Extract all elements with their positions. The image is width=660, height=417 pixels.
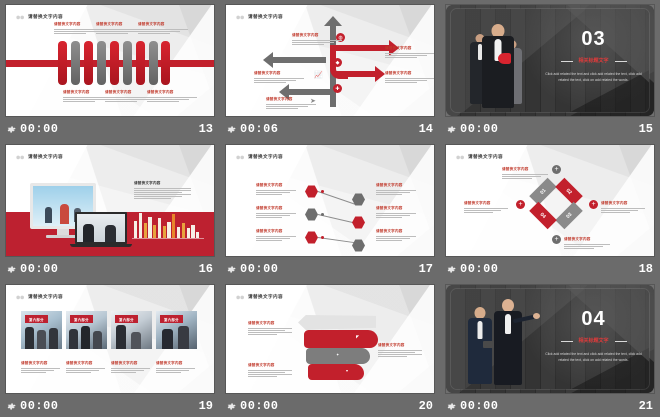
footer-left: 00:00: [445, 122, 499, 136]
footer-left: 00:00: [225, 399, 279, 413]
bar: [187, 228, 190, 238]
section-subtitle: 相关标题文字: [565, 57, 623, 64]
slide-title: 请替换文字内容: [468, 154, 503, 160]
slide-timer: 00:00: [240, 262, 279, 276]
quote-icon: [235, 12, 244, 21]
slide-18[interactable]: 请替换文字内容 01 02 03 04 + + + + 请替换文字内容: [446, 145, 654, 256]
slide-cell-21[interactable]: 04 相关标题文字 Click add related the text and…: [440, 280, 660, 417]
dark-panel: 04 相关标题文字 Click add related the text and…: [446, 285, 654, 393]
slide-header: 请替换文字内容: [455, 152, 503, 161]
slide-cell-14[interactable]: 请替换文字内容 ◍ ◆ ✚ 📈 ➤ 请替换文字内容 请替换文字内容: [220, 0, 440, 140]
footer-left: 00:00: [5, 399, 59, 413]
footer-left: 00:00: [5, 262, 59, 276]
megaphone-icon: ◆: [333, 58, 342, 67]
slide-number: 20: [419, 399, 433, 413]
section-text: 04 相关标题文字 Click add related the text and…: [542, 309, 645, 364]
quote-icon: [15, 292, 24, 301]
plus-icon: +: [552, 235, 561, 244]
chart-axis: [132, 238, 204, 239]
slide-20[interactable]: 请替换文字内容 ◤ ✦ ▾ 请替换文字内容 请替换文字内容 请替换文字内容: [226, 285, 434, 393]
slide-footer: 00:00 13: [0, 118, 220, 140]
slide-header: 请替换文字内容: [235, 152, 283, 161]
text-block: 请替换文字内容: [248, 321, 296, 336]
plus-icon: +: [552, 165, 561, 174]
slide-number: 17: [419, 262, 433, 276]
footer-left: 00:00: [445, 399, 499, 413]
slide-cell-16[interactable]: 请替换文字内容: [0, 140, 220, 280]
slide-header: 请替换文字内容: [15, 292, 63, 301]
text-block: 请替换文字内容: [376, 183, 420, 196]
slide-timer: 00:06: [240, 122, 279, 136]
slide-15[interactable]: 03 相关标题文字 Click add related the text and…: [446, 5, 654, 116]
photo-card[interactable]: 第六部分: [156, 311, 197, 349]
text-block: 请替换文字内容: [385, 71, 434, 84]
footer-left: 00:06: [225, 122, 279, 136]
section-subtitle: 相关标题文字: [565, 337, 623, 344]
slide-title: 请替换文字内容: [248, 154, 283, 160]
quote-icon: [15, 12, 24, 21]
plus-icon: +: [516, 200, 525, 209]
slide-number: 19: [199, 399, 213, 413]
text-block: 请替换文字内容: [256, 229, 300, 242]
slide-title: 请替换文字内容: [28, 294, 63, 300]
megaphone-icon: [498, 53, 511, 64]
slide-number: 13: [199, 122, 213, 136]
slide-header: 请替换文字内容: [235, 292, 283, 301]
text-block: 请替换文字内容: [376, 206, 420, 219]
section-text: 03 相关标题文字 Click add related the text and…: [542, 29, 645, 84]
footer-left: 00:00: [445, 262, 499, 276]
text-block: 请替换文字内容: [111, 361, 153, 374]
text-block: 请替换文字内容: [502, 167, 552, 180]
bar: [158, 218, 161, 238]
cycle-diagram: 01 02 03 04: [528, 175, 584, 231]
text-block: 请替换文字内容: [464, 201, 512, 214]
bar: [182, 223, 185, 238]
bar: [148, 217, 151, 238]
quote-icon: [15, 152, 24, 161]
photo-card[interactable]: 第六部分: [21, 311, 62, 349]
slide-cell-13[interactable]: 请替换文字内容 请替换文字内容 请替换文字内容 请替换文字内容: [0, 0, 220, 140]
slide-footer: 00:00 15: [440, 118, 660, 140]
bar: [167, 222, 170, 238]
slide-cell-18[interactable]: 请替换文字内容 01 02 03 04 + + + + 请替换文字内容: [440, 140, 660, 280]
section-body: Click add related the text and click add…: [542, 351, 645, 364]
slide-footer: 00:00 17: [220, 258, 440, 280]
slide-header: 请替换文字内容: [15, 12, 63, 21]
section-body: Click add related the text and click add…: [542, 71, 645, 84]
slide-cell-19[interactable]: 请替换文字内容 第六部分 第六部分 第六部分: [0, 280, 220, 417]
slide-19[interactable]: 请替换文字内容 第六部分 第六部分 第六部分: [6, 285, 214, 393]
quote-icon: [235, 292, 244, 301]
text-block: 请替换文字内容: [156, 361, 198, 374]
dark-inner-frame: 03 相关标题文字 Click add related the text and…: [451, 9, 649, 112]
dark-panel: 03 相关标题文字 Click add related the text and…: [446, 5, 654, 116]
card-tag: 第六部分: [70, 315, 93, 323]
slide-title: 请替换文字内容: [28, 154, 63, 160]
card-tag: 第六部分: [160, 315, 183, 323]
slide-timer: 00:00: [240, 399, 279, 413]
footer-left: 00:00: [5, 122, 59, 136]
gear-icon: [225, 401, 236, 412]
slide-timer: 00:00: [20, 122, 59, 136]
slide-number: 16: [199, 262, 213, 276]
card-tag: 第六部分: [115, 315, 138, 323]
quote-icon: [235, 152, 244, 161]
ribbon-icon: ▾: [346, 368, 348, 373]
gear-icon: [5, 264, 16, 275]
photo-card[interactable]: 第六部分: [66, 311, 107, 349]
gear-icon: [5, 401, 16, 412]
spiral-coil-graphic: [58, 41, 170, 85]
laptop-base: [70, 244, 132, 247]
text-block: 请替换文字内容: [256, 183, 300, 196]
slide-footer: 00:00 16: [0, 258, 220, 280]
text-block: 请替换文字内容: [601, 201, 649, 214]
cycle-step-01: 01: [529, 178, 557, 206]
slide-footer: 00:00 18: [440, 258, 660, 280]
ribbon-band-red: [304, 330, 378, 348]
text-block: 请替换文字内容: [254, 71, 308, 84]
text-block: 请替换文字内容: [21, 361, 63, 374]
slide-number: 18: [639, 262, 653, 276]
arrow-left-gray: [272, 57, 326, 63]
dark-inner-frame: 04 相关标题文字 Click add related the text and…: [451, 289, 649, 389]
person-figure: [467, 307, 493, 385]
slide-title: 请替换文字内容: [248, 294, 283, 300]
gear-icon: [225, 264, 236, 275]
slide-timer: 00:00: [20, 262, 59, 276]
bar: [177, 227, 180, 238]
slide-footer: 00:06 14: [220, 118, 440, 140]
slide-header: 请替换文字内容: [15, 152, 63, 161]
section-number: 03: [542, 29, 645, 49]
slide-title: 请替换文字内容: [28, 14, 63, 20]
person-figure-foreground: [481, 24, 515, 110]
slide-cell-15[interactable]: 03 相关标题文字 Click add related the text and…: [440, 0, 660, 140]
bar: [196, 232, 199, 238]
text-block: 请替换文字内容: [378, 343, 426, 358]
laptop-mockup: [75, 212, 127, 247]
slide-13[interactable]: 请替换文字内容 请替换文字内容 请替换文字内容 请替换文字内容: [6, 5, 214, 116]
laptop-screen: [75, 212, 127, 244]
connector-dot: [321, 236, 324, 239]
footer-left: 00:00: [225, 262, 279, 276]
bar: [134, 221, 137, 238]
gear-icon: [5, 124, 16, 135]
text-block: 请替换文字内容: [256, 206, 300, 219]
slide-timer: 00:00: [460, 122, 499, 136]
person-figure-foreground: [493, 299, 523, 387]
slide-header: 请替换文字内容: [235, 12, 283, 21]
quote-icon: [455, 152, 464, 161]
bar: [144, 223, 147, 238]
text-block: 请替换文字内容: [266, 97, 320, 110]
text-block: 请替换文字内容: [376, 229, 420, 242]
slide-17[interactable]: 请替换文字内容 请替换文字内容 请替换文字内容 请替换文: [226, 145, 434, 256]
ribbon-icon: ◤: [356, 334, 359, 339]
connector-dot: [321, 190, 324, 193]
slide-timer: 00:00: [20, 399, 59, 413]
text-block: 请替换文字内容: [564, 237, 614, 250]
slide-footer: 00:00 21: [440, 395, 660, 417]
slide-footer: 00:00 20: [220, 395, 440, 417]
chart-icon: 📈: [314, 71, 323, 79]
gear-icon: [445, 264, 456, 275]
cycle-step-02: 02: [555, 178, 583, 206]
cycle-step-04: 04: [529, 202, 557, 230]
gear-icon: [445, 401, 456, 412]
ribbon-band-light: [298, 315, 376, 330]
slide-thumbnail-grid: 请替换文字内容 请替换文字内容 请替换文字内容 请替换文字内容: [0, 0, 660, 417]
medical-cross-icon: ✚: [333, 84, 342, 93]
card-tag: 第六部分: [25, 315, 48, 323]
slide-21[interactable]: 04 相关标题文字 Click add related the text and…: [446, 285, 654, 393]
photo-card[interactable]: 第六部分: [111, 311, 152, 349]
text-block: 请替换文字内容: [66, 361, 108, 374]
text-block: 请替换文字内容: [292, 33, 346, 46]
slide-14[interactable]: 请替换文字内容 ◍ ◆ ✚ 📈 ➤ 请替换文字内容 请替换文字内容: [226, 5, 434, 116]
slide-number: 14: [419, 122, 433, 136]
slide-timer: 00:00: [460, 399, 499, 413]
text-block: 请替换文字内容: [385, 46, 434, 59]
text-block: 请替换文字内容: [134, 181, 196, 201]
slide-cell-20[interactable]: 请替换文字内容 ◤ ✦ ▾ 请替换文字内容 请替换文字内容 请替换文字内容: [220, 280, 440, 417]
people-photo: [451, 289, 542, 389]
slide-footer: 00:00 19: [0, 395, 220, 417]
bar: [191, 225, 194, 238]
slide-number: 21: [639, 399, 653, 413]
bar: [172, 214, 175, 238]
bar: [153, 225, 156, 238]
bar: [163, 226, 166, 238]
section-number: 04: [542, 309, 645, 329]
plus-icon: +: [589, 200, 598, 209]
gear-icon: [225, 124, 236, 135]
text-block: 请替换文字内容: [248, 363, 296, 378]
gear-icon: [445, 124, 456, 135]
slide-cell-17[interactable]: 请替换文字内容 请替换文字内容 请替换文字内容 请替换文: [220, 140, 440, 280]
bar-chart: [134, 210, 199, 238]
cycle-step-03: 03: [555, 202, 583, 230]
arrow-left-gray: [288, 89, 332, 95]
slide-timer: 00:00: [460, 262, 499, 276]
slide-16[interactable]: 请替换文字内容: [6, 145, 214, 256]
bar: [139, 213, 142, 238]
slide-number: 15: [639, 122, 653, 136]
ribbon-band-red: [308, 364, 364, 380]
slide-title: 请替换文字内容: [248, 14, 283, 20]
ribbon-icon: ✦: [336, 352, 339, 357]
text-block: 请替换文字内容: [138, 22, 192, 35]
text-block: 请替换文字内容: [147, 90, 201, 103]
people-photo: [451, 9, 542, 112]
connector-dot: [321, 213, 324, 216]
